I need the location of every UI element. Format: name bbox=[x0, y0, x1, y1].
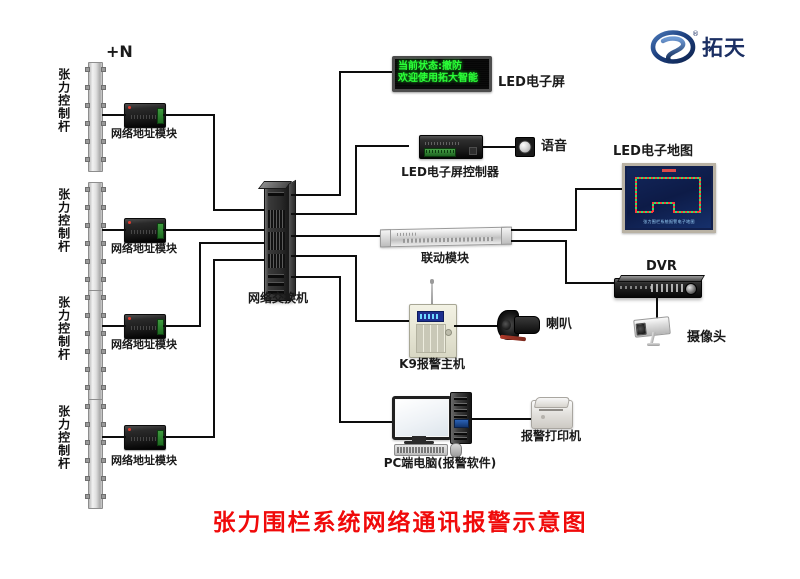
network-switch-label: 网络交换机 bbox=[218, 292, 338, 306]
wire-switch-to-link-module bbox=[291, 235, 381, 237]
wire-to-k9 bbox=[355, 320, 410, 322]
wire-module1-out bbox=[163, 114, 214, 116]
wire-link-out2-down bbox=[565, 240, 567, 284]
wire-pole2-module bbox=[102, 229, 126, 231]
pole-label-4: 张力控制杆 bbox=[57, 405, 70, 470]
wire-module3-out bbox=[163, 325, 200, 327]
wire-module3-up bbox=[199, 242, 201, 327]
wire-to-dvr bbox=[565, 282, 615, 284]
plus-n-label: +N bbox=[106, 43, 133, 61]
tension-pole-1 bbox=[88, 62, 103, 172]
wire-link-out2 bbox=[511, 240, 567, 242]
led-screen-line1: 当前状态:撤防 bbox=[398, 61, 486, 73]
wire-link-out1 bbox=[511, 229, 577, 231]
wire-switch-out4 bbox=[291, 255, 357, 257]
dvr-label: DVR bbox=[646, 260, 677, 275]
alarm-printer bbox=[531, 400, 573, 429]
led-map-caption: 张力围栏系统报警电子地图 bbox=[627, 219, 711, 225]
wire-module3-to-switch bbox=[199, 242, 265, 244]
wire-module4-to-switch bbox=[213, 259, 265, 261]
wire-pole4-module bbox=[102, 436, 126, 438]
pc-keyboard bbox=[394, 444, 448, 456]
pc-monitor bbox=[392, 396, 452, 440]
pc-tower bbox=[450, 392, 472, 444]
wire-switch-out2 bbox=[291, 213, 357, 215]
led-electronic-map: 张力围栏系统报警电子地图 bbox=[622, 163, 716, 233]
wire-controller-to-voice bbox=[482, 146, 516, 148]
network-address-module-3 bbox=[124, 314, 166, 339]
led-screen-line2: 欢迎使用拓大智能 bbox=[398, 73, 486, 85]
brand-name: 拓天 bbox=[702, 32, 746, 62]
led-map-label: LED电子地图 bbox=[613, 145, 693, 160]
camera-label: 摄像头 bbox=[687, 331, 726, 346]
tension-pole-3 bbox=[88, 290, 103, 400]
wire-to-led-screen bbox=[339, 71, 393, 73]
diagram-canvas: 拓天 ® +N 张力控制杆 网络地址模块 张力控制杆 网络地址模块 张力控制杆 bbox=[0, 0, 800, 579]
network-address-module-4 bbox=[124, 425, 166, 450]
horn-label: 喇叭 bbox=[546, 318, 572, 333]
oval-t-logo-icon bbox=[650, 30, 696, 64]
led-display-screen: 当前状态:撤防 欢迎使用拓大智能 bbox=[392, 56, 492, 92]
wire-to-led-controller bbox=[355, 145, 409, 147]
module-label-3: 网络地址模块 bbox=[104, 339, 184, 352]
wire-module1-down bbox=[213, 114, 215, 211]
wire-to-pc bbox=[339, 421, 392, 423]
wire-module1-to-switch bbox=[213, 209, 265, 211]
dvr-device bbox=[614, 278, 702, 298]
wire-switch-out5 bbox=[291, 276, 341, 278]
wire-pc-to-printer bbox=[472, 418, 532, 420]
module-label-1: 网络地址模块 bbox=[104, 128, 184, 141]
wire-switch-out4-down bbox=[355, 255, 357, 322]
network-switch bbox=[264, 185, 292, 301]
module-label-2: 网络地址模块 bbox=[104, 243, 184, 256]
module-label-4: 网络地址模块 bbox=[104, 455, 184, 468]
led-screen-label: LED电子屏 bbox=[498, 76, 565, 91]
wire-module4-out bbox=[163, 436, 214, 438]
camera-device bbox=[632, 316, 678, 346]
led-controller-label: LED电子屏控制器 bbox=[384, 166, 516, 180]
wire-pole3-module bbox=[102, 325, 126, 327]
horn-speaker bbox=[497, 310, 543, 338]
wire-k9-to-horn bbox=[454, 325, 502, 327]
pole-label-1: 张力控制杆 bbox=[57, 68, 70, 133]
k9-alarm-host bbox=[409, 304, 457, 358]
registered-mark: ® bbox=[692, 30, 699, 38]
page-title: 张力围栏系统网络通讯报警示意图 bbox=[0, 503, 800, 537]
wire-pole1-module bbox=[102, 114, 126, 116]
tension-pole-4 bbox=[88, 399, 103, 509]
led-screen-controller bbox=[419, 135, 483, 159]
network-address-module-1 bbox=[124, 103, 166, 128]
linkage-module-label: 联动模块 bbox=[395, 252, 495, 266]
wire-switch-out1 bbox=[291, 194, 341, 196]
network-address-module-2 bbox=[124, 218, 166, 243]
wire-link-out1-up bbox=[575, 188, 577, 231]
pole-label-3: 张力控制杆 bbox=[57, 296, 70, 361]
printer-label: 报警打印机 bbox=[505, 430, 597, 444]
pc-label: PC端电脑(报警软件) bbox=[370, 457, 510, 471]
wire-switch-out1-up bbox=[339, 71, 341, 196]
tension-pole-2 bbox=[88, 182, 103, 292]
linkage-module bbox=[380, 227, 512, 248]
wire-switch-out5-down bbox=[339, 276, 341, 423]
voice-module bbox=[515, 137, 535, 157]
voice-label: 语音 bbox=[541, 140, 567, 155]
wire-module2-to-switch bbox=[163, 229, 265, 231]
k9-label: K9报警主机 bbox=[388, 358, 476, 372]
wire-to-led-map bbox=[575, 188, 623, 190]
pole-label-2: 张力控制杆 bbox=[57, 188, 70, 253]
wire-module4-up bbox=[213, 259, 215, 438]
wire-switch-out2-up bbox=[355, 145, 357, 215]
